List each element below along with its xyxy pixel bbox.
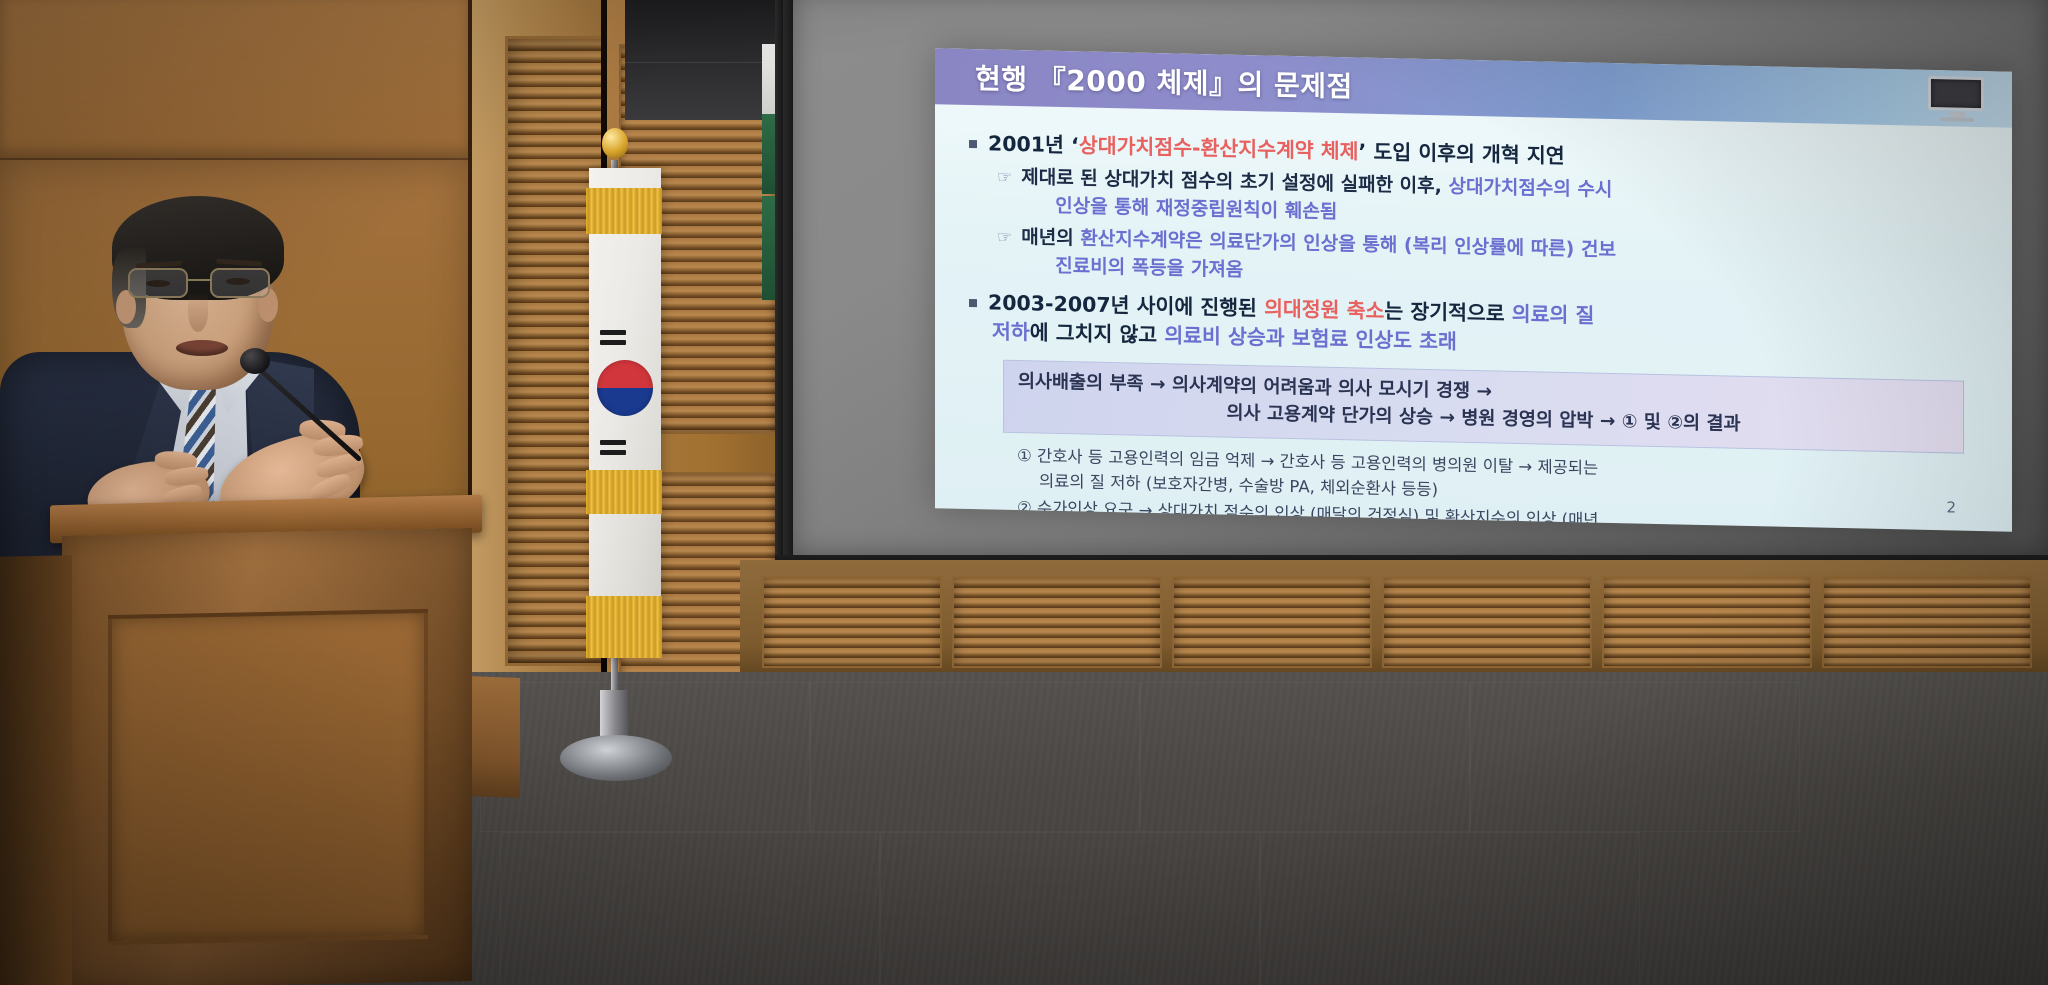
wall-vent-panel xyxy=(762,576,942,668)
wall-vent-panel xyxy=(1602,576,1812,668)
flag-stand-base xyxy=(560,735,672,781)
slide-title: 현행 『2000 체제』의 문제점 xyxy=(975,57,1353,105)
slide-bullet-2: 2003-2007년 사이에 진행된 의대정원 축소는 장기적으로 의료의 질저… xyxy=(969,288,1978,368)
trigram-mark xyxy=(600,450,626,455)
flag-fringe xyxy=(586,188,662,234)
carpet-tile xyxy=(1260,832,1640,985)
glasses-bridge xyxy=(188,279,210,281)
flag-finial-icon xyxy=(602,128,628,158)
slide-callout-box: 의사배출의 부족 → 의사계약의 어려움과 의사 모시기 경쟁 → 의사 고용계… xyxy=(1003,359,1964,453)
callout-line-2: 의사 고용계약 단가의 상승 → 병원 경영의 압박 → ① 및 ②의 결과 xyxy=(1018,395,1949,443)
carpet-tile xyxy=(1470,682,1800,832)
wall-vent-panel xyxy=(952,576,1162,668)
taeguk-symbol-icon xyxy=(597,360,653,416)
trigram-mark xyxy=(600,440,626,445)
wall-vent-panel xyxy=(1822,576,2032,668)
carpet-tile xyxy=(500,832,880,985)
slide-page-number: 2 xyxy=(1946,498,1956,516)
flag-fringe xyxy=(586,470,662,514)
sub-bullet-1b-text: 매년의 환산지수계약은 의료단가의 인상을 통해 (복리 인상률에 따른) 건보… xyxy=(1021,224,1616,292)
presentation-room-photo: 현행 『2000 체제』의 문제점 2001년 ‘상대가치점수-환산지수계약 체… xyxy=(0,0,2048,985)
bullet-square-icon xyxy=(969,299,977,307)
monitor-base-shape xyxy=(1940,117,1974,122)
podium-left-edge xyxy=(0,555,72,985)
pointing-hand-icon: ☞ xyxy=(997,166,1012,219)
sub-bullet-1a-text: 제대로 된 상대가치 점수의 초기 설정에 실패한 이후, 상대가치점수의 수시… xyxy=(1021,164,1612,232)
trigram-mark xyxy=(600,330,626,335)
carpet-tile xyxy=(880,832,1260,985)
bullet-2-line: 2003-2007년 사이에 진행된 의대정원 축소는 장기적으로 의료의 질저… xyxy=(969,288,1978,368)
speaker-mouth xyxy=(176,340,228,356)
speaker-nose xyxy=(188,292,208,332)
slide-body: 2001년 ‘상대가치점수-환산지수계약 체제’ 도입 이후의 개혁 지연 ☞ … xyxy=(935,104,2012,532)
trigram-mark xyxy=(600,340,626,345)
bullet-square-icon xyxy=(969,140,977,148)
projected-slide: 현행 『2000 체제』의 문제점 2001년 ‘상대가치점수-환산지수계약 체… xyxy=(935,48,2012,532)
monitor-screen-shape xyxy=(1928,76,1984,111)
carpet-tile xyxy=(810,682,1140,832)
podium-inset-panel xyxy=(108,609,428,945)
speaker-eye-right xyxy=(226,278,250,285)
bullet-2-text: 2003-2007년 사이에 진행된 의대정원 축소는 장기적으로 의료의 질저… xyxy=(988,289,1594,360)
carpet-tile xyxy=(1140,682,1470,832)
monitor-icon xyxy=(1928,76,1986,125)
slide-bullet-1: 2001년 ‘상대가치점수-환산지수계약 체제’ 도입 이후의 개혁 지연 ☞ … xyxy=(969,129,1978,300)
microphone-head-icon xyxy=(240,348,270,374)
flag-fringe xyxy=(586,596,662,658)
wall-panel-upper xyxy=(0,0,470,160)
speaker-eye-left xyxy=(146,280,170,287)
wall-vent-panel xyxy=(1172,576,1372,668)
pointing-hand-icon: ☞ xyxy=(997,226,1012,279)
wall-vent-panel xyxy=(1382,576,1592,668)
